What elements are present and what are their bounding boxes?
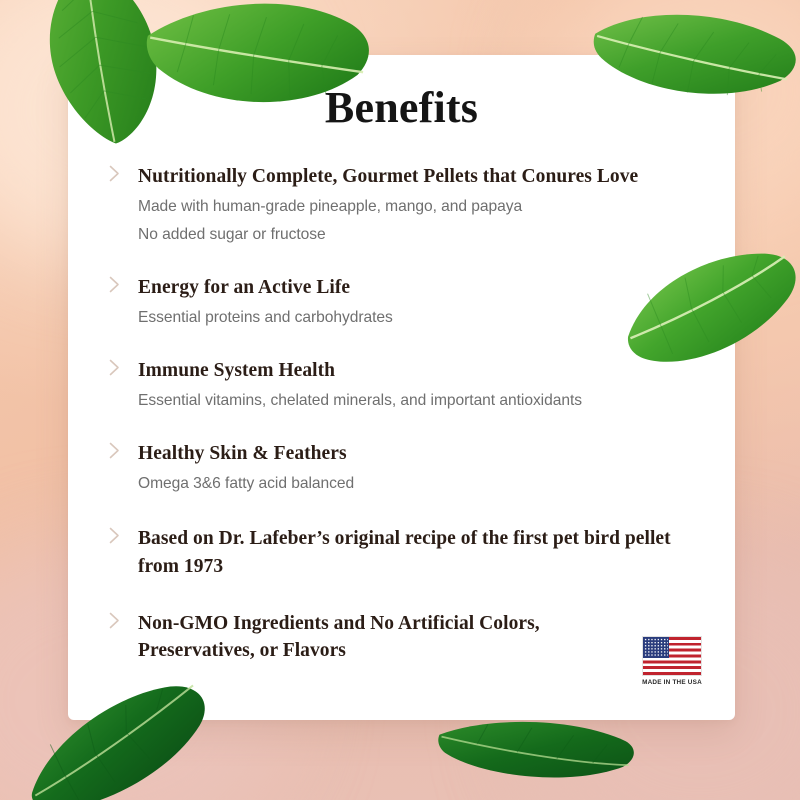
benefit-heading: Nutritionally Complete, Gourmet Pellets … [138,163,701,191]
usa-flag-icon [642,636,702,676]
chevron-right-icon [108,527,121,544]
page-title: Benefits [102,85,701,131]
list-item: Non-GMO Ingredients and No Artificial Co… [102,610,701,665]
chevron-right-icon [108,359,121,376]
benefit-heading: Based on Dr. Lafeber’s original recipe o… [138,525,683,580]
benefit-detail: No added sugar or fructose [138,222,701,247]
benefit-heading: Immune System Health [138,357,701,385]
list-item: Immune System Health Essential vitamins,… [102,357,701,413]
list-item: Energy for an Active Life Essential prot… [102,274,701,330]
benefits-card: Benefits Nutritionally Complete, Gourmet… [68,55,735,720]
chevron-right-icon [108,276,121,293]
chevron-right-icon [108,165,121,182]
leaf-bottom-center-icon [436,713,638,794]
list-item: Nutritionally Complete, Gourmet Pellets … [102,163,701,247]
list-item: Healthy Skin & Feathers Omega 3&6 fatty … [102,440,701,496]
chevron-right-icon [108,612,121,629]
benefit-detail: Essential proteins and carbohydrates [138,305,701,330]
benefit-detail: Essential vitamins, chelated minerals, a… [138,388,701,413]
made-in-usa-caption: MADE IN THE USA [641,679,703,686]
benefit-heading: Non-GMO Ingredients and No Artificial Co… [138,610,588,665]
list-item: Based on Dr. Lafeber’s original recipe o… [102,525,701,580]
benefit-detail: Made with human-grade pineapple, mango, … [138,194,701,219]
flag-canton [643,637,669,658]
benefit-detail: Omega 3&6 fatty acid balanced [138,471,701,496]
benefit-heading: Energy for an Active Life [138,274,701,302]
made-in-usa-badge: MADE IN THE USA [641,636,703,686]
chevron-right-icon [108,442,121,459]
benefit-heading: Healthy Skin & Feathers [138,440,701,468]
benefits-list: Nutritionally Complete, Gourmet Pellets … [102,163,701,665]
benefits-card-content: Benefits Nutritionally Complete, Gourmet… [68,55,735,720]
page-root: Benefits Nutritionally Complete, Gourmet… [0,0,800,800]
